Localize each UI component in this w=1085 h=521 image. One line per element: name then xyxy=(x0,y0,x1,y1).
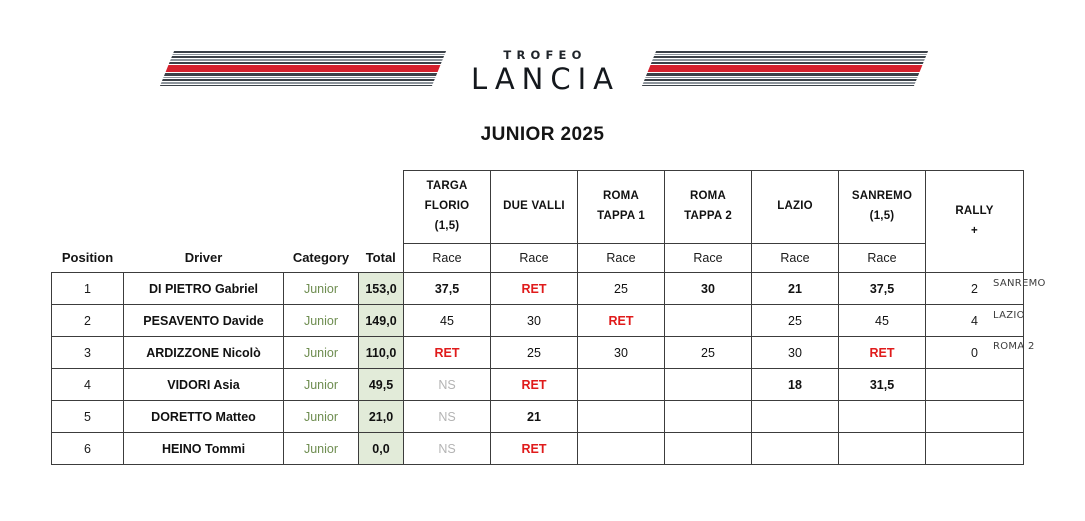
event-header-6: SANREMO(1,5) xyxy=(839,171,926,244)
cell-score-6: 45 xyxy=(839,305,926,337)
logo-stripes-left xyxy=(157,51,445,91)
cell-score-2: RET xyxy=(491,369,578,401)
cell-total: 49,5 xyxy=(359,369,404,401)
tiebreak-note xyxy=(993,394,1083,426)
cell-total: 21,0 xyxy=(359,401,404,433)
logo-stripe xyxy=(653,56,926,58)
header-position: Position xyxy=(52,244,124,273)
cell-total: 110,0 xyxy=(359,337,404,369)
logo-lancia-text: LANCIA xyxy=(454,65,638,94)
header-total: Total xyxy=(359,244,404,273)
event-header-line: ROMA xyxy=(665,187,751,207)
logo-stripe xyxy=(171,56,444,58)
table-row[interactable]: 3ARDIZZONE NicolòJunior110,0RET25302530R… xyxy=(52,337,1024,369)
logo-stripe xyxy=(173,51,446,53)
cell-category: Junior xyxy=(284,305,359,337)
rally-header: RALLY+ xyxy=(926,171,1024,273)
event-header-line: (1,5) xyxy=(839,207,925,227)
cell-score-2: 25 xyxy=(491,337,578,369)
cell-score-3: 25 xyxy=(578,273,665,305)
logo-trofeo-text: TROFEO xyxy=(453,50,638,62)
tiebreak-note: LAZIO xyxy=(993,300,1083,332)
cell-position: 3 xyxy=(52,337,124,369)
race-subheader-2: Race xyxy=(491,244,578,273)
cell-score-3 xyxy=(578,369,665,401)
cell-position: 5 xyxy=(52,401,124,433)
cell-driver: DI PIETRO Gabriel xyxy=(124,273,284,305)
race-subheader-6: Race xyxy=(839,244,926,273)
tiebreak-note: ROMA 2 xyxy=(993,331,1083,363)
tiebreak-note xyxy=(993,363,1083,395)
cell-driver: DORETTO Matteo xyxy=(124,401,284,433)
cell-position: 1 xyxy=(52,273,124,305)
cell-score-4: 30 xyxy=(665,273,752,305)
logo-stripe xyxy=(159,85,432,87)
cell-score-5: 25 xyxy=(752,305,839,337)
cell-category: Junior xyxy=(284,401,359,433)
race-subheader-3: Race xyxy=(578,244,665,273)
cell-score-4 xyxy=(665,369,752,401)
cell-position: 4 xyxy=(52,369,124,401)
event-header-1: TARGAFLORIO(1,5) xyxy=(404,171,491,244)
cell-driver: PESAVENTO Davide xyxy=(124,305,284,337)
cell-score-2: RET xyxy=(491,273,578,305)
cell-total: 0,0 xyxy=(359,433,404,465)
cell-score-5: 21 xyxy=(752,273,839,305)
cell-score-1: RET xyxy=(404,337,491,369)
cell-score-2: RET xyxy=(491,433,578,465)
page-title: JUNIOR 2025 xyxy=(0,124,1085,146)
race-subheader-1: Race xyxy=(404,244,491,273)
header-driver: Driver xyxy=(124,244,284,273)
spacer-cell xyxy=(359,171,404,244)
logo-stripe xyxy=(163,77,436,79)
cell-score-3: 30 xyxy=(578,337,665,369)
cell-category: Junior xyxy=(284,369,359,401)
cell-score-6: RET xyxy=(839,337,926,369)
event-header-line: DUE VALLI xyxy=(491,197,577,217)
rally-header-line: RALLY xyxy=(926,202,1023,222)
logo-stripe xyxy=(172,54,445,56)
spacer-cell xyxy=(284,171,359,244)
event-header-line: TAPPA 1 xyxy=(578,207,664,227)
trofeo-lancia-logo: TROFEO LANCIA xyxy=(0,48,1085,94)
logo-stripe xyxy=(650,62,923,65)
event-header-line: LAZIO xyxy=(752,197,838,217)
cell-total: 149,0 xyxy=(359,305,404,337)
cell-score-5: 18 xyxy=(752,369,839,401)
cell-score-6: 31,5 xyxy=(839,369,926,401)
logo-stripe xyxy=(161,79,434,81)
logo-stripe xyxy=(647,65,922,72)
cell-score-1: 37,5 xyxy=(404,273,491,305)
standings-table-container: TARGAFLORIO(1,5)DUE VALLIROMATAPPA 1ROMA… xyxy=(51,170,988,465)
subheader-row: PositionDriverCategoryTotalRaceRaceRaceR… xyxy=(52,244,1024,273)
logo-stripe xyxy=(643,79,916,81)
cell-score-1: 45 xyxy=(404,305,491,337)
cell-score-2: 30 xyxy=(491,305,578,337)
logo-stripe xyxy=(655,51,928,53)
cell-score-6: 37,5 xyxy=(839,273,926,305)
cell-category: Junior xyxy=(284,273,359,305)
cell-total: 153,0 xyxy=(359,273,404,305)
logo-stripe xyxy=(164,73,437,76)
cell-score-6 xyxy=(839,433,926,465)
logo-stripe xyxy=(165,65,440,72)
event-header-line: FLORIO xyxy=(404,197,490,217)
cell-score-4 xyxy=(665,401,752,433)
table-row[interactable]: 6HEINO TommiJunior0,0NSRET xyxy=(52,433,1024,465)
logo-stripe xyxy=(160,82,433,84)
event-header-5: LAZIO xyxy=(752,171,839,244)
cell-driver: ARDIZZONE Nicolò xyxy=(124,337,284,369)
cell-score-3 xyxy=(578,401,665,433)
cell-score-2: 21 xyxy=(491,401,578,433)
cell-score-1: NS xyxy=(404,369,491,401)
cell-score-5 xyxy=(752,433,839,465)
logo-wordmark: TROFEO LANCIA xyxy=(448,50,638,95)
event-header-line: TAPPA 2 xyxy=(665,207,751,227)
cell-score-4 xyxy=(665,305,752,337)
rally-header-line: + xyxy=(926,222,1023,242)
logo-stripe xyxy=(645,77,918,79)
cell-position: 2 xyxy=(52,305,124,337)
event-header-line: SANREMO xyxy=(839,187,925,207)
logo-stripe xyxy=(642,82,915,84)
race-subheader-5: Race xyxy=(752,244,839,273)
logo-stripe xyxy=(646,73,919,76)
cell-score-3 xyxy=(578,433,665,465)
event-header-3: ROMATAPPA 1 xyxy=(578,171,665,244)
event-header-4: ROMATAPPA 2 xyxy=(665,171,752,244)
event-header-line: ROMA xyxy=(578,187,664,207)
table-row[interactable]: 5DORETTO MatteoJunior21,0NS21 xyxy=(52,401,1024,433)
table-row[interactable]: 1DI PIETRO GabrielJunior153,037,5RET2530… xyxy=(52,273,1024,305)
logo-stripe xyxy=(652,59,925,61)
cell-score-5 xyxy=(752,401,839,433)
standings-table: TARGAFLORIO(1,5)DUE VALLIROMATAPPA 1ROMA… xyxy=(51,170,1024,465)
logo-stripe xyxy=(170,59,443,61)
logo-stripes-right xyxy=(639,51,927,91)
logo-stripe xyxy=(641,85,914,87)
event-header-line: TARGA xyxy=(404,177,490,197)
cell-category: Junior xyxy=(284,337,359,369)
header-category: Category xyxy=(284,244,359,273)
cell-category: Junior xyxy=(284,433,359,465)
tiebreak-notes: SANREMOLAZIOROMA 2 xyxy=(993,268,1083,457)
tiebreak-note: SANREMO xyxy=(993,268,1083,300)
event-header-line: (1,5) xyxy=(404,217,490,237)
cell-score-3: RET xyxy=(578,305,665,337)
table-row[interactable]: 4VIDORI AsiaJunior49,5NSRET1831,5 xyxy=(52,369,1024,401)
cell-score-5: 30 xyxy=(752,337,839,369)
cell-score-1: NS xyxy=(404,433,491,465)
tiebreak-note xyxy=(993,426,1083,458)
logo-stripe xyxy=(168,62,441,65)
cell-position: 6 xyxy=(52,433,124,465)
cell-driver: HEINO Tommi xyxy=(124,433,284,465)
cell-score-4 xyxy=(665,433,752,465)
cell-score-6 xyxy=(839,401,926,433)
event-header-2: DUE VALLI xyxy=(491,171,578,244)
event-header-row: TARGAFLORIO(1,5)DUE VALLIROMATAPPA 1ROMA… xyxy=(52,171,1024,244)
spacer-cell xyxy=(52,171,124,244)
race-subheader-4: Race xyxy=(665,244,752,273)
cell-driver: VIDORI Asia xyxy=(124,369,284,401)
cell-score-1: NS xyxy=(404,401,491,433)
spacer-cell xyxy=(124,171,284,244)
cell-score-4: 25 xyxy=(665,337,752,369)
table-row[interactable]: 2PESAVENTO DavideJunior149,04530RET25454 xyxy=(52,305,1024,337)
logo-stripe xyxy=(654,54,927,56)
